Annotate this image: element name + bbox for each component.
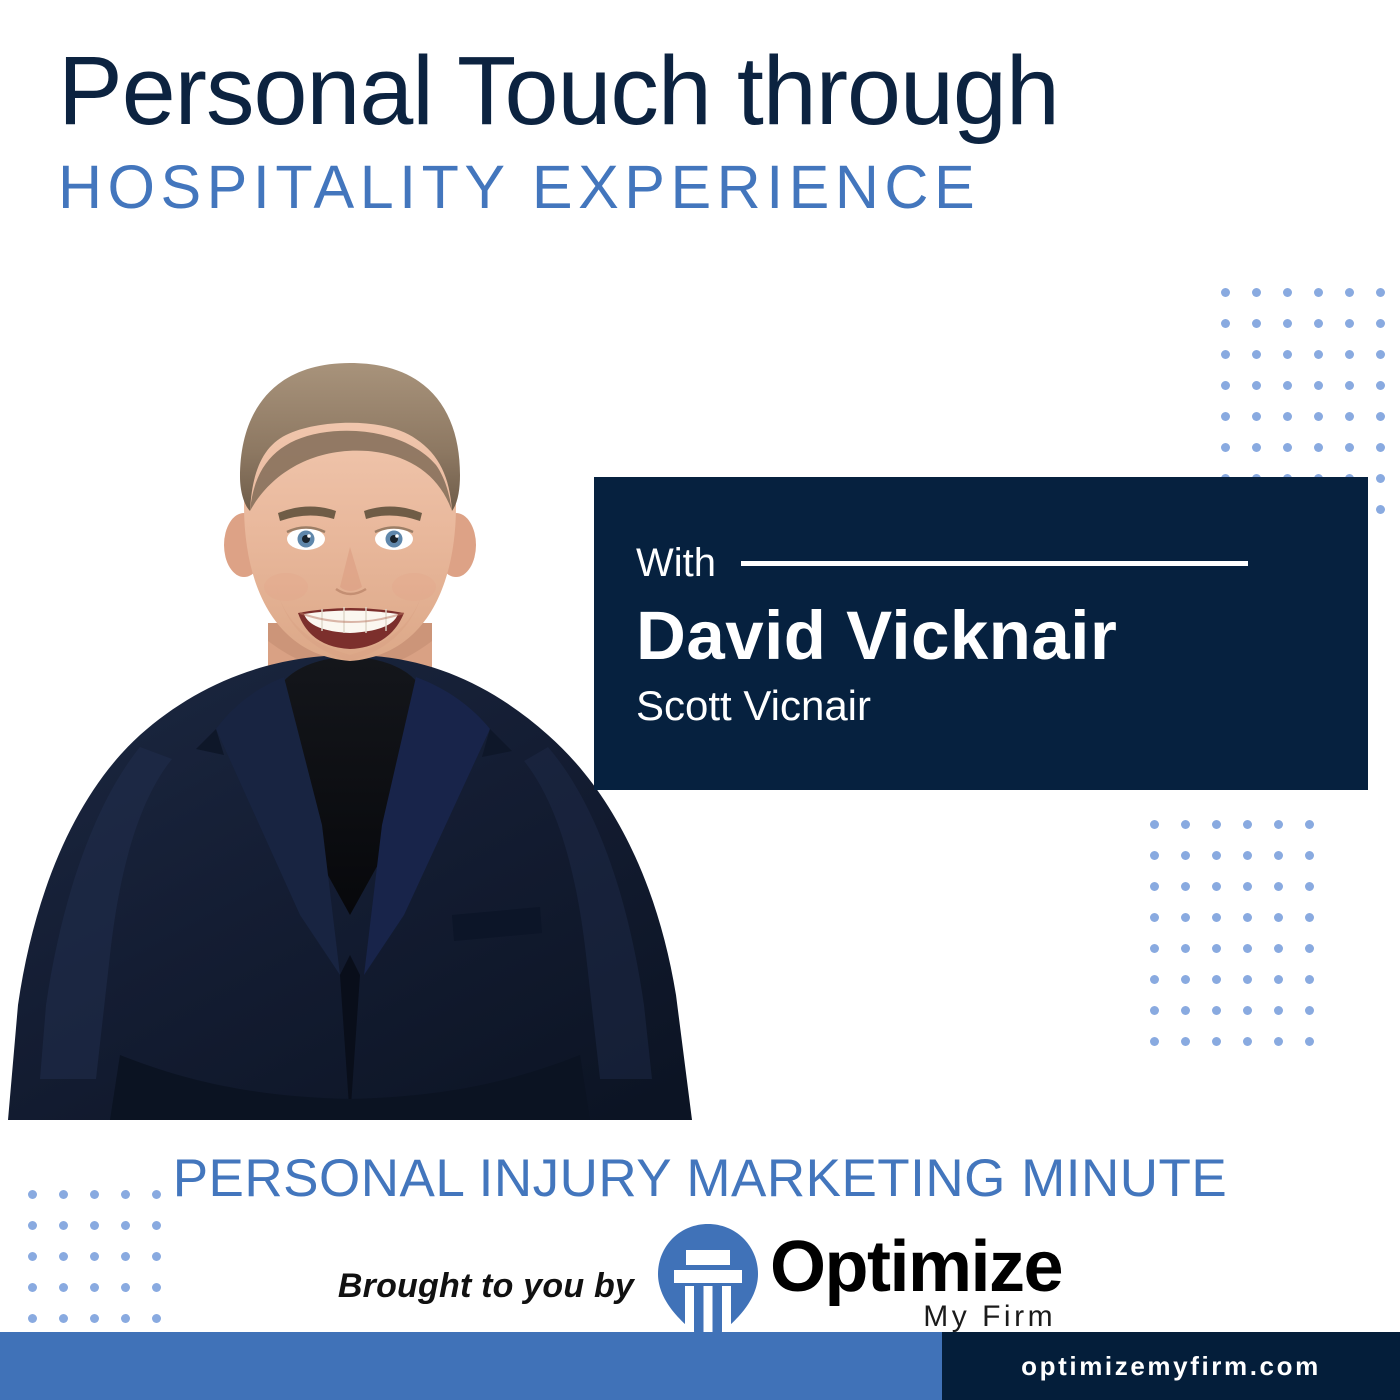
episode-title-line2: HOSPITALITY EXPERIENCE (58, 157, 1308, 218)
decorative-dot (1252, 319, 1283, 350)
decorative-dot (1345, 319, 1376, 350)
decorative-dot (1283, 319, 1314, 350)
decorative-dot (1212, 944, 1243, 975)
decorative-dot (1150, 975, 1181, 1006)
decorative-dot (1314, 288, 1345, 319)
decorative-dot (1314, 412, 1345, 443)
decorative-dot (1305, 820, 1336, 851)
decorative-dot (1181, 851, 1212, 882)
decorative-dot (1376, 381, 1400, 412)
decorative-dot (1181, 1006, 1212, 1037)
decorative-dot (1221, 443, 1252, 474)
decorative-dot (1376, 319, 1400, 350)
decorative-dot (1274, 975, 1305, 1006)
decorative-dot (1345, 288, 1376, 319)
decorative-dot (1345, 350, 1376, 381)
decorative-dot (1305, 913, 1336, 944)
decorative-dot (1221, 288, 1252, 319)
decorative-dot (1274, 851, 1305, 882)
decorative-dot (1150, 882, 1181, 913)
decorative-dot (1243, 882, 1274, 913)
decorative-dot (1150, 1037, 1181, 1068)
decorative-dot (1181, 944, 1212, 975)
dot-grid-mid-right (1150, 820, 1336, 1068)
decorative-dot (1212, 913, 1243, 944)
speaker-subname: Scott Vicnair (636, 684, 871, 728)
with-row: With (636, 543, 1326, 583)
decorative-dot (1283, 381, 1314, 412)
speaker-name: David Vicknair (636, 600, 1117, 672)
logo-wordmark: Optimize My Firm (770, 1234, 1062, 1332)
decorative-dot (1305, 851, 1336, 882)
with-label: With (636, 543, 716, 583)
decorative-dot (1274, 1006, 1305, 1037)
decorative-dot (1181, 820, 1212, 851)
website-url[interactable]: optimizemyfirm.com (1021, 1351, 1321, 1382)
decorative-dot (1305, 882, 1336, 913)
optimize-my-firm-logo: Optimize My Firm (656, 1222, 1062, 1344)
decorative-dot (1212, 851, 1243, 882)
decorative-dot (1252, 412, 1283, 443)
decorative-dot (1376, 350, 1400, 381)
decorative-dot (1274, 882, 1305, 913)
decorative-dot (1252, 288, 1283, 319)
decorative-dot (1243, 944, 1274, 975)
decorative-dot (1314, 350, 1345, 381)
decorative-dot (1283, 288, 1314, 319)
decorative-dot (1345, 412, 1376, 443)
logo-primary-text: Optimize (770, 1234, 1062, 1300)
decorative-dot (1274, 1037, 1305, 1068)
decorative-dot (1345, 443, 1376, 474)
decorative-dot (1345, 381, 1376, 412)
sponsor-row: Brought to you by Optimize My Firm (0, 1222, 1400, 1344)
podcast-cover-art: Personal Touch through HOSPITALITY EXPER… (0, 0, 1400, 1400)
decorative-dot (1314, 381, 1345, 412)
decorative-dot (1212, 882, 1243, 913)
decorative-dot (1243, 851, 1274, 882)
footer-bar: optimizemyfirm.com (0, 1332, 1400, 1400)
decorative-dot (1252, 443, 1283, 474)
decorative-dot (1274, 913, 1305, 944)
decorative-dot (1221, 350, 1252, 381)
decorative-dot (1150, 1006, 1181, 1037)
episode-title-line1: Personal Touch through (58, 40, 1308, 143)
decorative-dot (1212, 820, 1243, 851)
with-divider-line (741, 561, 1248, 566)
decorative-dot (1274, 820, 1305, 851)
decorative-dot (1305, 1006, 1336, 1037)
decorative-dot (1305, 1037, 1336, 1068)
decorative-dot (1283, 443, 1314, 474)
decorative-dot (1243, 820, 1274, 851)
decorative-dot (1181, 882, 1212, 913)
decorative-dot (1283, 412, 1314, 443)
decorative-dot (1150, 913, 1181, 944)
speaker-card: With David Vicknair Scott Vicnair (594, 477, 1368, 790)
decorative-dot (1150, 820, 1181, 851)
decorative-dot (1243, 913, 1274, 944)
decorative-dot (1243, 975, 1274, 1006)
decorative-dot (1376, 474, 1400, 505)
brought-to-you-by-label: Brought to you by (338, 1267, 634, 1306)
decorative-dot (1150, 944, 1181, 975)
decorative-dot (1283, 350, 1314, 381)
decorative-dot (1221, 319, 1252, 350)
decorative-dot (1181, 913, 1212, 944)
decorative-dot (1243, 1006, 1274, 1037)
title-block: Personal Touch through HOSPITALITY EXPER… (58, 40, 1308, 218)
decorative-dot (1376, 505, 1400, 536)
decorative-dot (1376, 443, 1400, 474)
decorative-dot (1305, 975, 1336, 1006)
decorative-dot (1376, 288, 1400, 319)
decorative-dot (1221, 381, 1252, 412)
decorative-dot (1243, 1037, 1274, 1068)
decorative-dot (1150, 851, 1181, 882)
footer-url-block: optimizemyfirm.com (942, 1332, 1400, 1400)
decorative-dot (1274, 944, 1305, 975)
show-name: PERSONAL INJURY MARKETING MINUTE (0, 1148, 1400, 1209)
decorative-dot (1181, 975, 1212, 1006)
pillar-column-logo-icon (656, 1222, 760, 1344)
logo-secondary-text: My Firm (923, 1302, 1056, 1332)
decorative-dot (1212, 1037, 1243, 1068)
decorative-dot (1314, 443, 1345, 474)
footer-blue-block (0, 1332, 942, 1400)
decorative-dot (1221, 412, 1252, 443)
decorative-dot (1212, 1006, 1243, 1037)
decorative-dot (1305, 944, 1336, 975)
decorative-dot (1212, 975, 1243, 1006)
decorative-dot (1252, 381, 1283, 412)
decorative-dot (1181, 1037, 1212, 1068)
decorative-dot (1314, 319, 1345, 350)
decorative-dot (1252, 350, 1283, 381)
decorative-dot (1376, 412, 1400, 443)
